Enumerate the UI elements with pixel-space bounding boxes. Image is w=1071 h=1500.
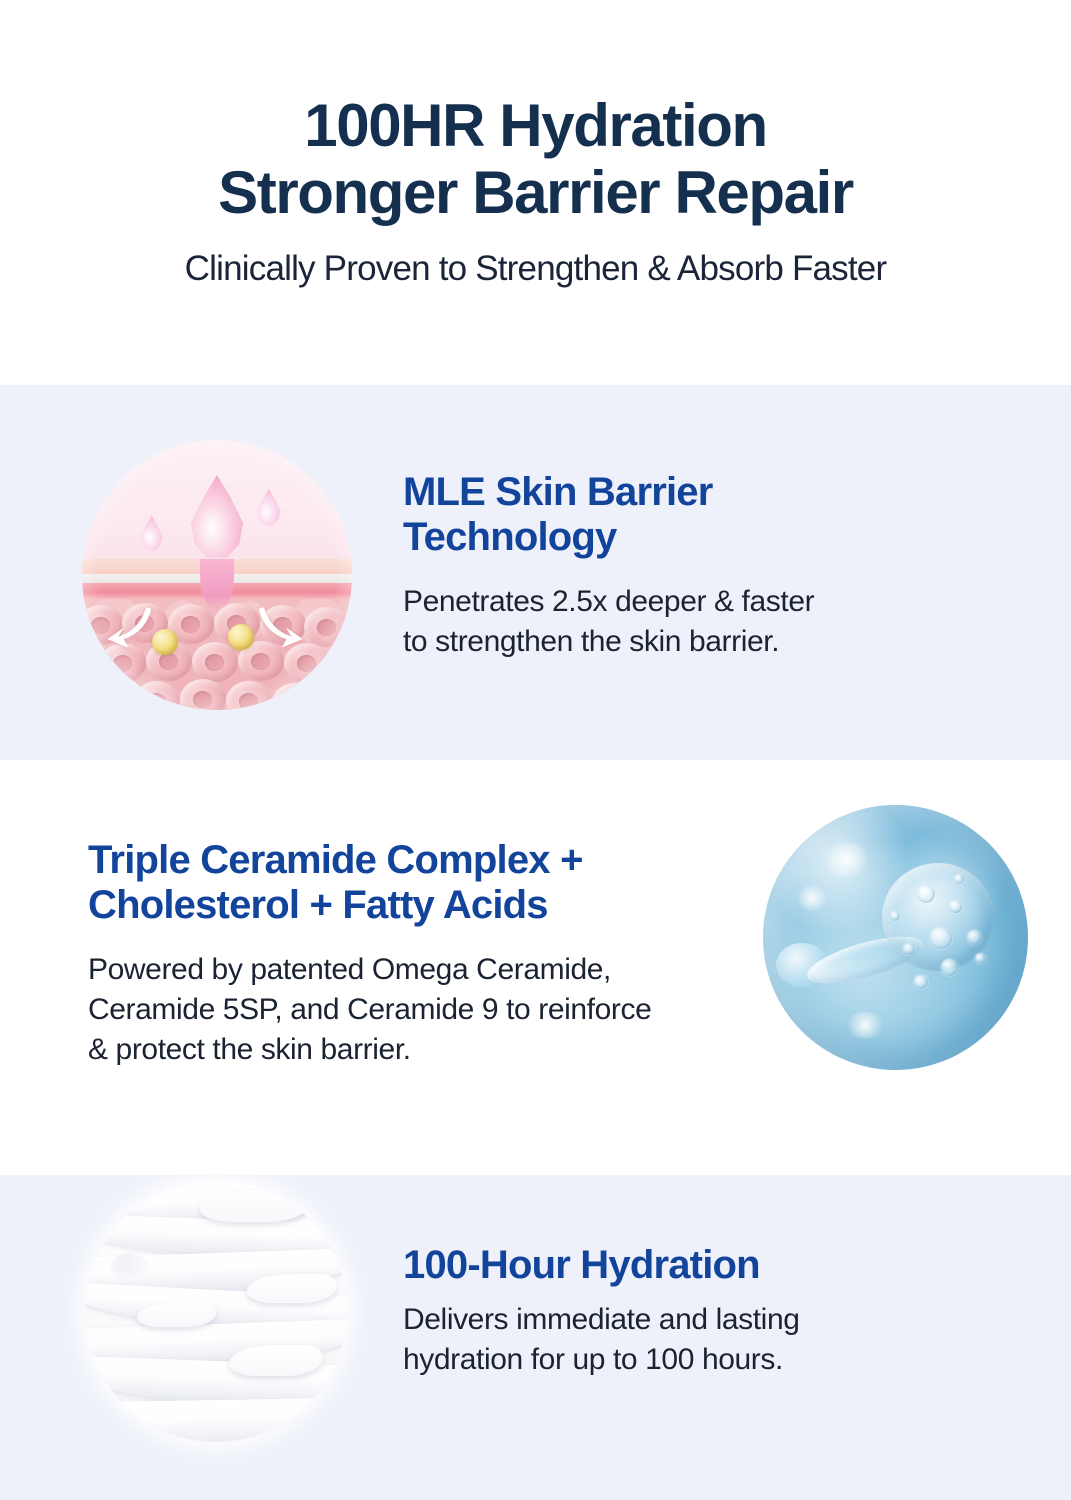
page-subtitle: Clinically Proven to Strengthen & Absorb… xyxy=(185,248,887,290)
feature-1-copy: MLE Skin Barrier Technology Penetrates 2… xyxy=(403,470,963,662)
feature-3-title: 100-Hour Hydration xyxy=(403,1243,963,1288)
water-sphere-icon xyxy=(763,805,1028,1070)
circle-vignette xyxy=(763,805,1028,1070)
feature-2-title: Triple Ceramide Complex + Cholesterol + … xyxy=(88,838,788,928)
skin-cross-section-icon xyxy=(82,440,352,710)
circle-vignette xyxy=(82,440,352,710)
feature-2-copy: Triple Ceramide Complex + Cholesterol + … xyxy=(88,838,788,1070)
header-section: 100HR Hydration Stronger Barrier Repair … xyxy=(0,0,1071,385)
feature-1-title: MLE Skin Barrier Technology xyxy=(403,470,963,560)
feature-3-copy: 100-Hour Hydration Delivers immediate an… xyxy=(403,1243,963,1380)
cream-texture-icon xyxy=(85,1180,347,1442)
skin-cell xyxy=(88,679,134,710)
feature-1-body: Penetrates 2.5x deeper & faster to stren… xyxy=(403,582,963,662)
page-title: 100HR Hydration Stronger Barrier Repair xyxy=(31,92,1041,226)
feature-2-body: Powered by patented Omega Ceramide, Cera… xyxy=(88,950,788,1070)
feature-3-body: Delivers immediate and lasting hydration… xyxy=(403,1300,963,1380)
circle-vignette xyxy=(85,1180,347,1442)
infographic-page: 100HR Hydration Stronger Barrier Repair … xyxy=(0,0,1071,1500)
